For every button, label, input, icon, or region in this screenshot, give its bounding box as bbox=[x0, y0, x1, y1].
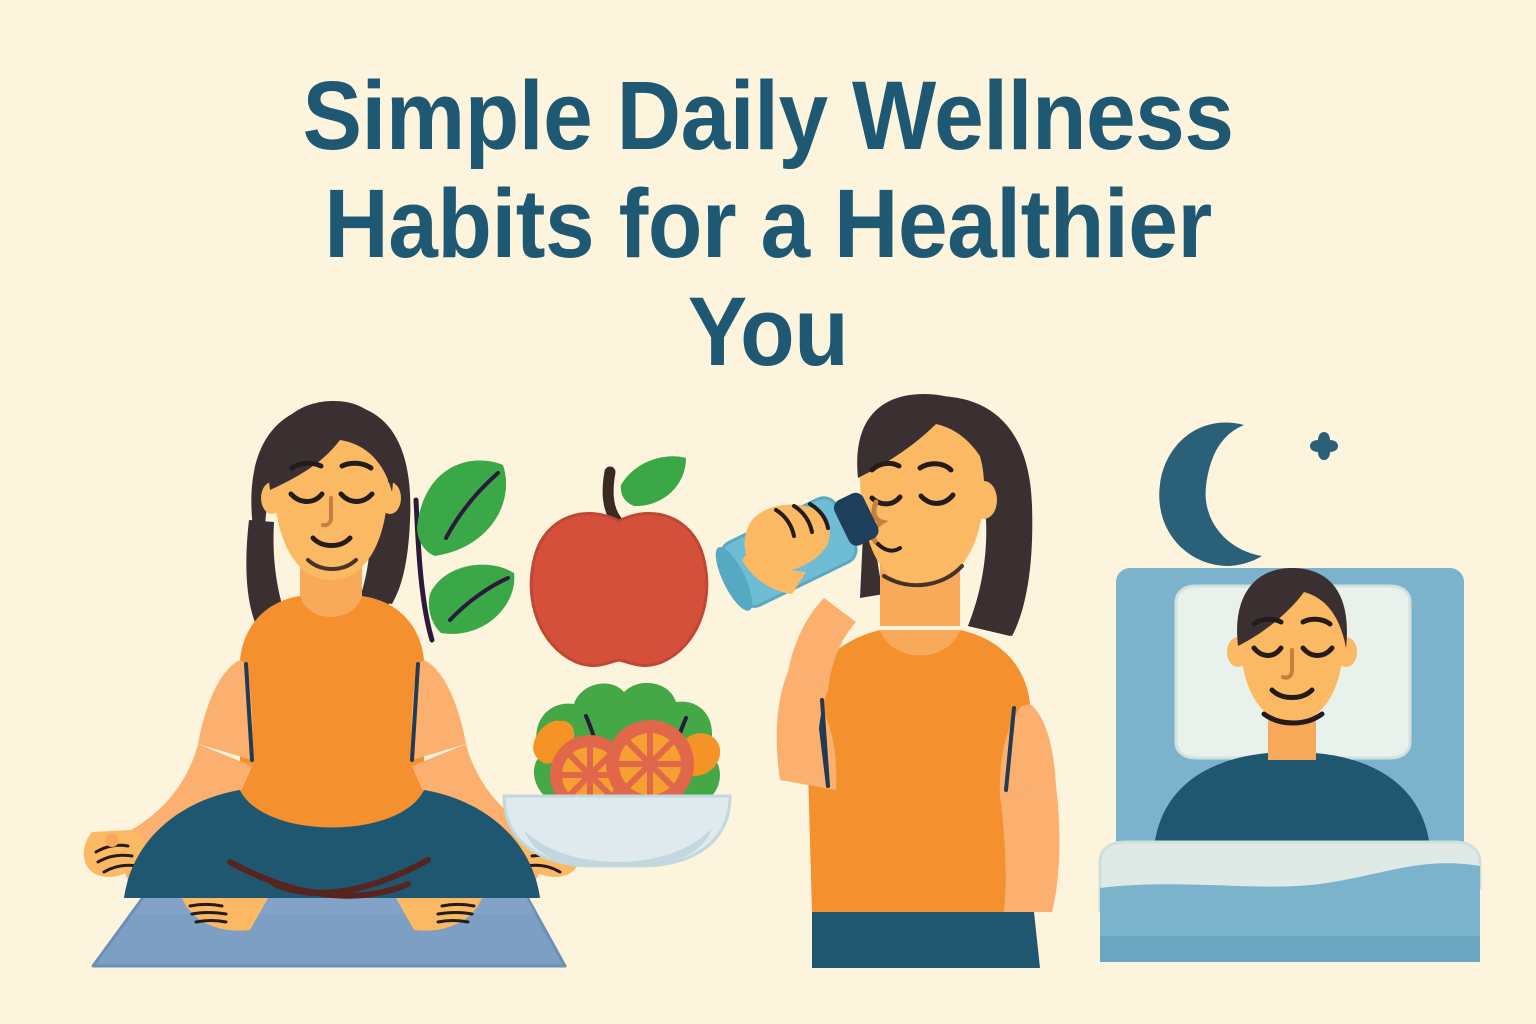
apple bbox=[531, 456, 707, 665]
sparkle-star bbox=[1310, 432, 1338, 460]
apple-leaf bbox=[621, 456, 686, 506]
illustration-scene bbox=[0, 0, 1536, 1024]
plant-leaves bbox=[416, 461, 514, 640]
scene-svg bbox=[0, 0, 1536, 1024]
salad-bowl bbox=[504, 683, 730, 866]
crescent-moon bbox=[1159, 422, 1262, 566]
wellness-poster: Simple Daily Wellness Habits for a Healt… bbox=[0, 0, 1536, 1024]
drinking-woman bbox=[777, 394, 1060, 968]
bed bbox=[1100, 568, 1480, 962]
